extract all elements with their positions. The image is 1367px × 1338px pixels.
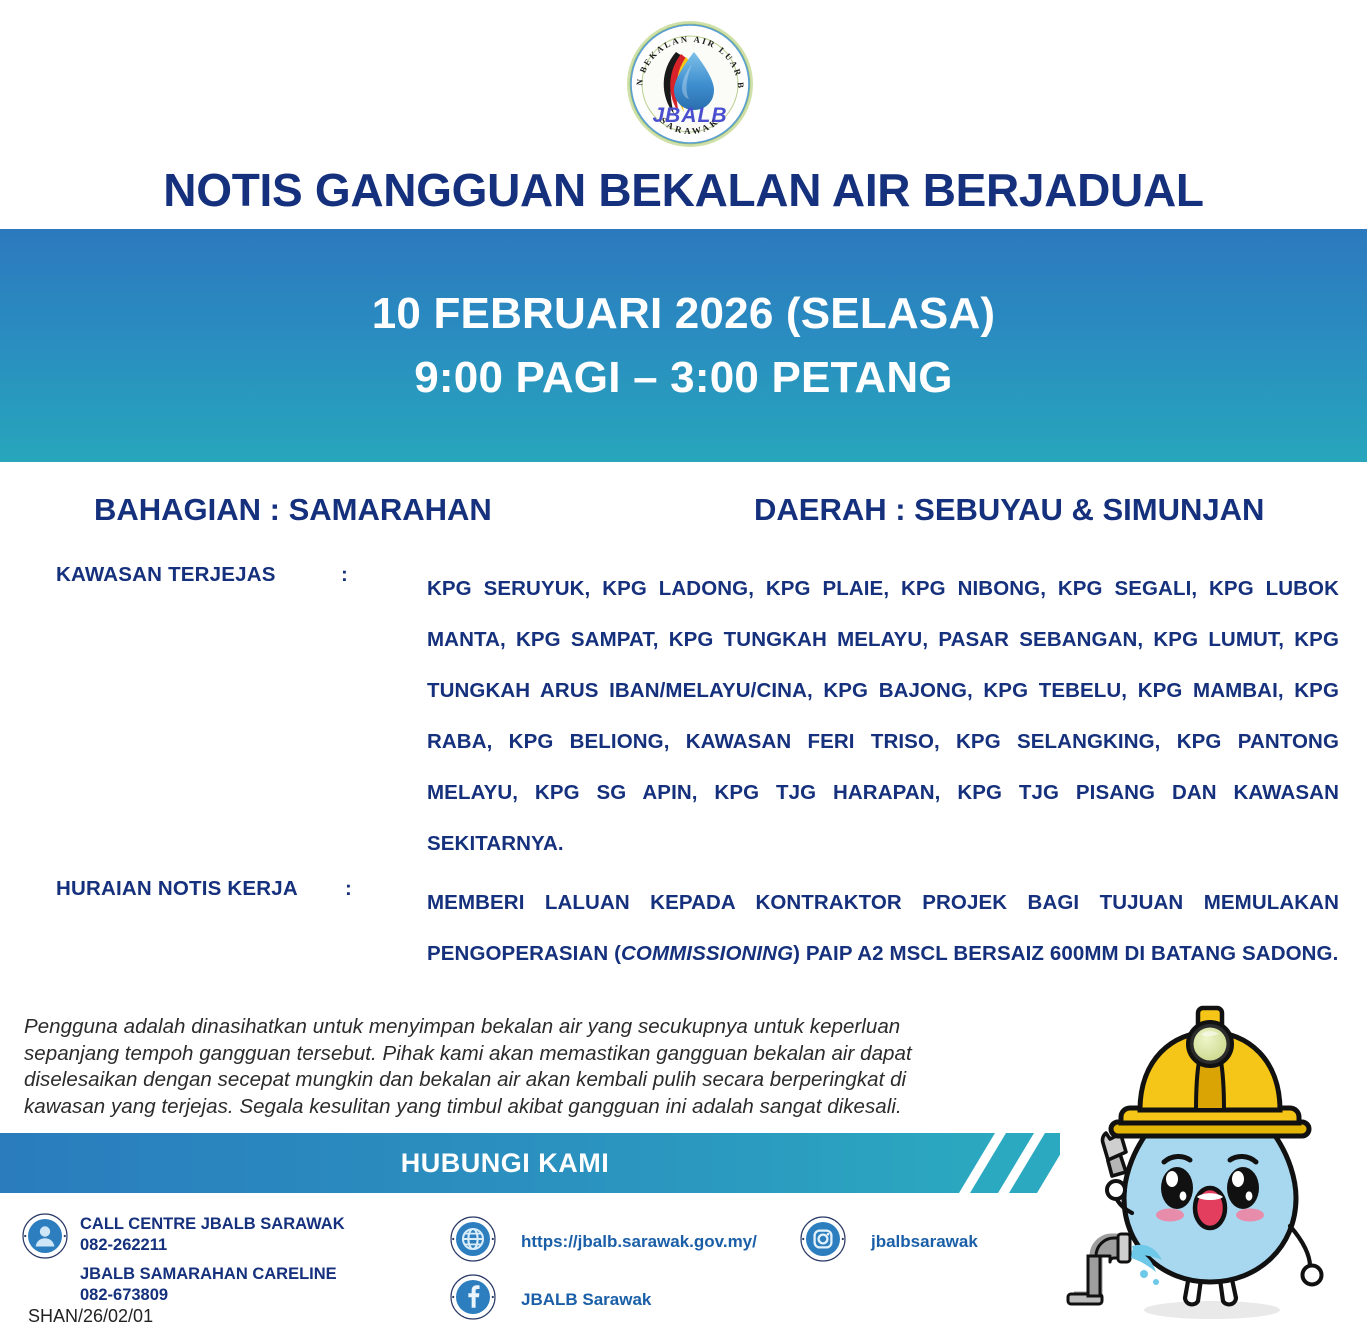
instagram-icon <box>800 1216 846 1267</box>
website-url[interactable]: https://jbalb.sarawak.gov.my/ <box>521 1232 757 1252</box>
facebook-icon <box>450 1274 496 1325</box>
page-title: NOTIS GANGGUAN BEKALAN AIR BERJADUAL <box>0 163 1367 217</box>
instagram-contact[interactable]: jbalbsarawak <box>800 1216 978 1267</box>
notice-date: 10 FEBRUARI 2026 (SELASA) <box>372 282 996 346</box>
advisory-paragraph: Pengguna adalah dinasihatkan untuk menyi… <box>24 1014 984 1120</box>
careline-number[interactable]: 082-673809 <box>80 1285 345 1306</box>
affected-areas-value: KPG SERUYUK, KPG LADONG, KPG PLAIE, KPG … <box>427 563 1339 869</box>
bahagian-label: BAHAGIAN : SAMARAHAN <box>94 492 492 528</box>
facebook-contact[interactable]: JBALB Sarawak <box>450 1274 651 1325</box>
work-description-italic-term: COMMISSIONING <box>621 942 793 965</box>
jbalb-logo: JBALB JABATAN BEKALAN AIR LUAR BANDAR SA… <box>624 18 756 150</box>
work-description-part2: ) PAIP A2 MSCL BERSAIZ 600MM DI BATANG S… <box>793 942 1338 965</box>
region-row: BAHAGIAN : SAMARAHAN DAERAH : SEBUYAU & … <box>0 492 1367 532</box>
affected-areas-label: KAWASAN TERJEJAS <box>56 563 276 587</box>
water-droplet-worker-mascot <box>1052 998 1367 1338</box>
website-contact[interactable]: https://jbalb.sarawak.gov.my/ <box>450 1216 757 1267</box>
phone-contacts: CALL CENTRE JBALB SARAWAK 082-262211 JBA… <box>22 1213 442 1306</box>
daerah-label: DAERAH : SEBUYAU & SIMUNJAN <box>754 492 1264 528</box>
facebook-handle[interactable]: JBALB Sarawak <box>521 1290 651 1310</box>
affected-areas-colon: : <box>341 563 348 587</box>
instagram-handle[interactable]: jbalbsarawak <box>871 1232 978 1252</box>
work-description-label: HURAIAN NOTIS KERJA <box>56 877 298 901</box>
notice-poster: JBALB JABATAN BEKALAN AIR LUAR BANDAR SA… <box>0 0 1367 1338</box>
careline-label: JBALB SAMARAHAN CARELINE <box>80 1264 345 1285</box>
globe-icon <box>450 1216 496 1267</box>
work-description-colon: : <box>345 877 352 901</box>
notice-time: 9:00 PAGI – 3:00 PETANG <box>414 346 953 410</box>
call-centre-label: CALL CENTRE JBALB SARAWAK <box>80 1214 345 1235</box>
call-centre-number[interactable]: 082-262211 <box>80 1235 345 1256</box>
reference-code: SHAN/26/02/01 <box>28 1306 153 1327</box>
date-time-banner: 10 FEBRUARI 2026 (SELASA) 9:00 PAGI – 3:… <box>0 229 1367 462</box>
work-description-value: MEMBERI LALUAN KEPADA KONTRAKTOR PROJEK … <box>427 877 1339 979</box>
person-icon <box>22 1213 68 1264</box>
contact-banner: HUBUNGI KAMI <box>0 1133 1060 1193</box>
